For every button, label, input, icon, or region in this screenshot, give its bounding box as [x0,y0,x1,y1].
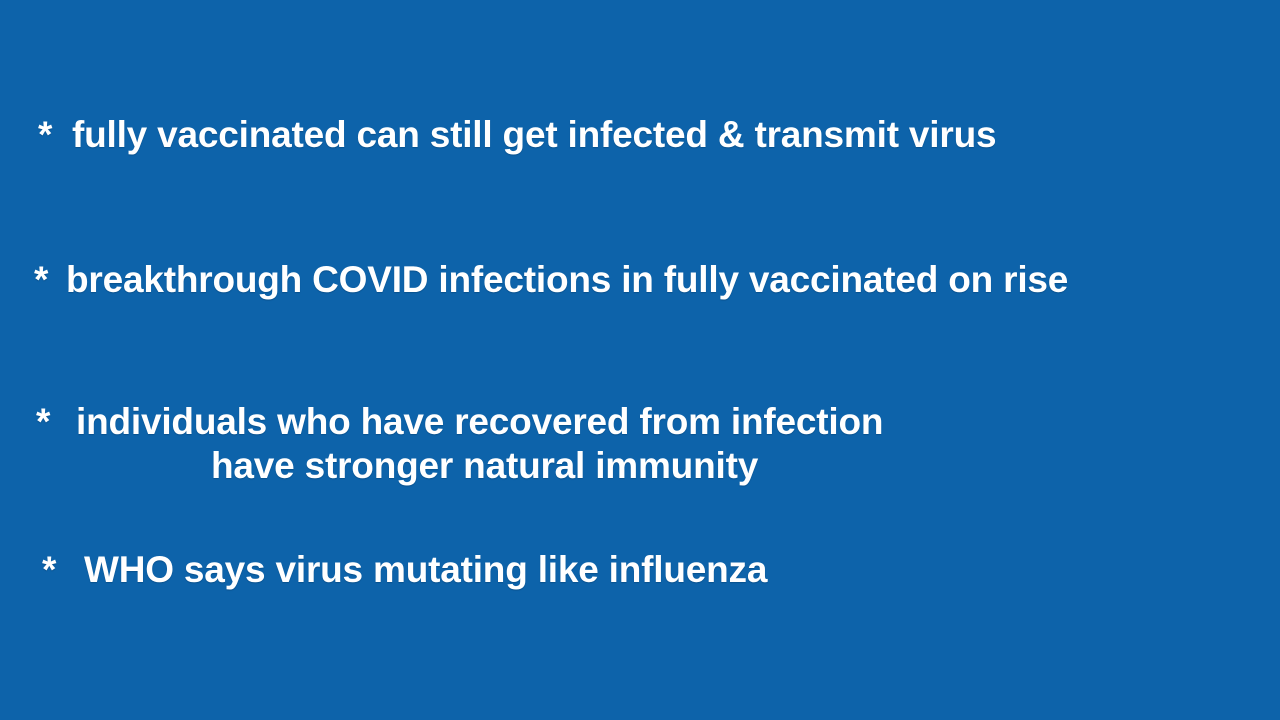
asterisk-bullet-icon: * [34,258,66,302]
list-item: *individuals who have recovered from inf… [0,400,1280,488]
list-item: *breakthrough COVID infections in fully … [0,258,1280,302]
list-item: *fully vaccinated can still get infected… [0,113,1280,157]
bullet-row: *WHO says virus mutating like influenza [42,548,1280,592]
bullet-row: *individuals who have recovered from inf… [36,400,1280,444]
list-item: *WHO says virus mutating like influenza [0,548,1280,592]
bullet-text: fully vaccinated can still get infected … [72,113,996,157]
asterisk-bullet-icon: * [42,548,84,592]
bullet-text: WHO says virus mutating like influenza [84,548,767,592]
bullet-text: individuals who have recovered from infe… [76,400,883,444]
asterisk-bullet-icon: * [38,113,72,157]
bullet-list: *fully vaccinated can still get infected… [0,0,1280,720]
bullet-text-continuation: have stronger natural immunity [36,444,1280,488]
bullet-row: *fully vaccinated can still get infected… [38,113,1280,157]
asterisk-bullet-icon: * [36,400,76,444]
bullet-row: *breakthrough COVID infections in fully … [34,258,1280,302]
bullet-text: breakthrough COVID infections in fully v… [66,258,1068,302]
slide-canvas: *fully vaccinated can still get infected… [0,0,1280,720]
